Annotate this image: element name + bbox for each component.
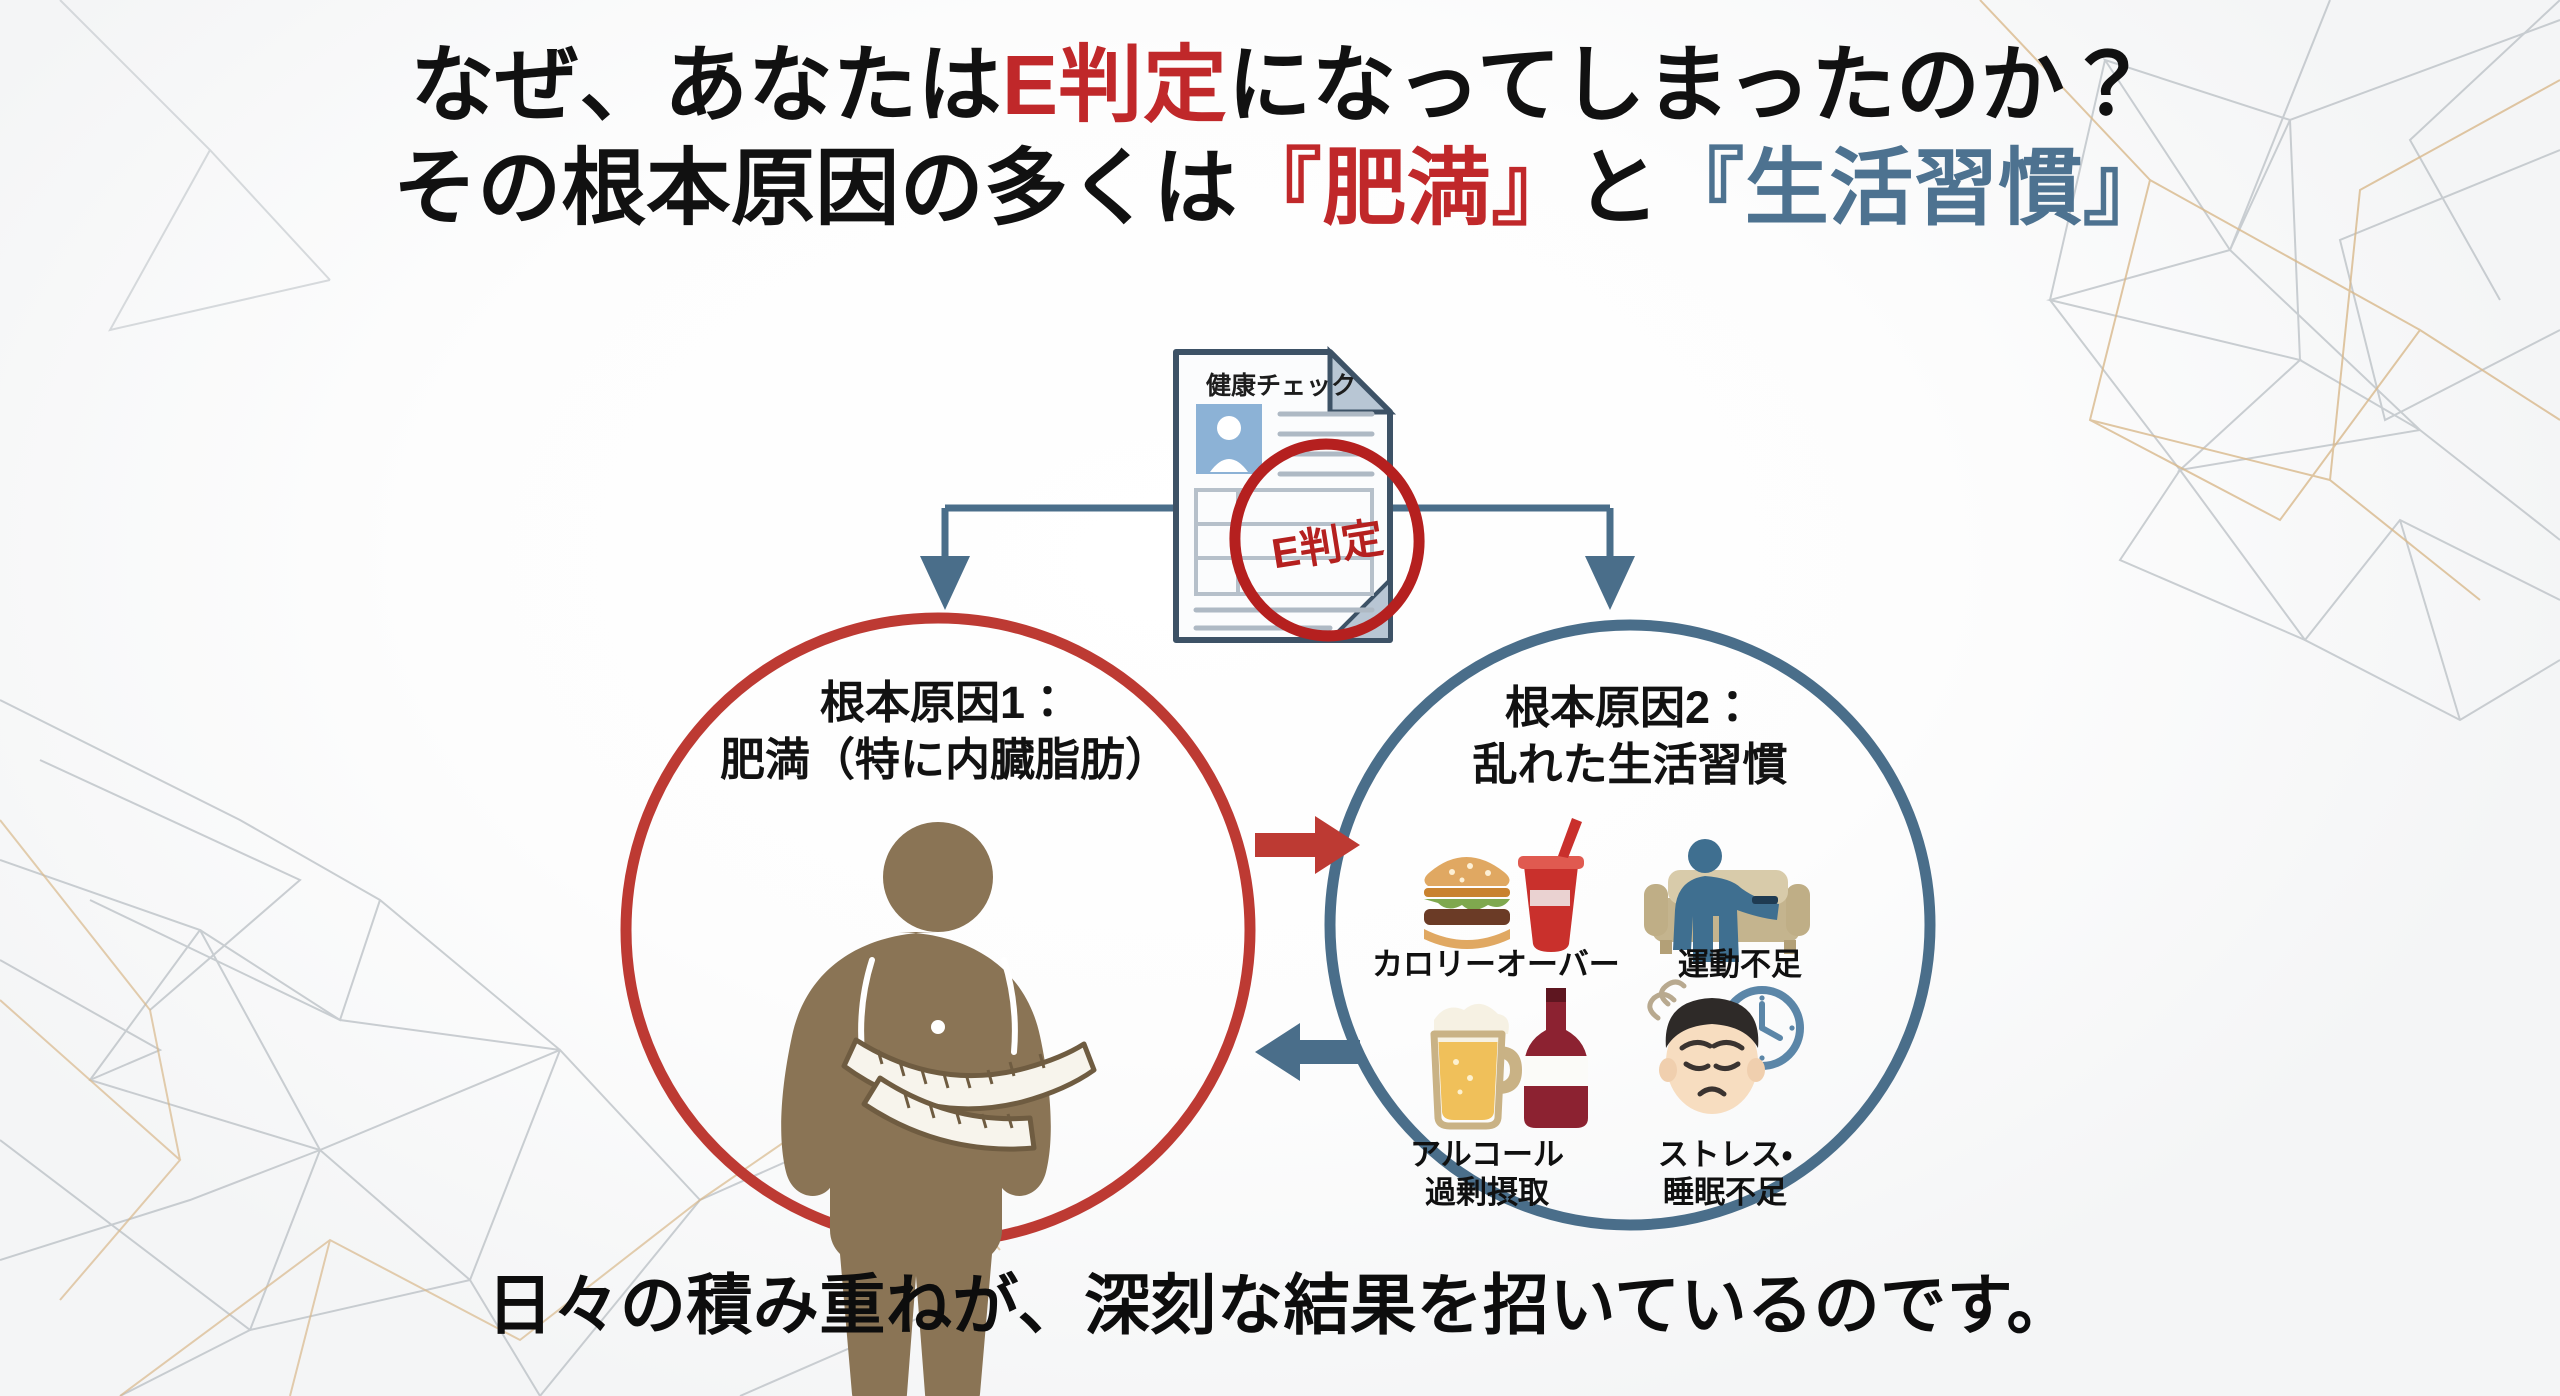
habit-2-line1: アルコール <box>1378 1136 1596 1174</box>
slide-root: なぜ、あなたはE判定になってしまったのか？ その根本原因の多くは『肥満』と『生活… <box>0 0 2560 1396</box>
habit-label-stress-sleep: ストレス・ 睡眠不足 <box>1616 1136 1834 1212</box>
title-line-2: その根本原因の多くは『肥満』と『生活習慣』 <box>0 137 2560 240</box>
habit-2-line2: 過剰摂取 <box>1378 1174 1596 1212</box>
title-line1-pre: なぜ、あなたは <box>411 38 1003 132</box>
cause-right-heading-line1: 根本原因2： <box>1330 680 1930 737</box>
title-line2-pre: その根本原因の多くは <box>393 141 1238 235</box>
footer-caption: 日々の積み重ねが、深刻な結果を招いているのです。 <box>0 1252 2560 1348</box>
title-line2-mid: と <box>1576 141 1661 235</box>
cause-right-heading: 根本原因2： 乱れた生活習慣 <box>1330 680 1930 793</box>
habit-0-line1: カロリーオーバー <box>1372 946 1602 984</box>
habit-3-line1: ストレス・ <box>1616 1136 1834 1174</box>
cause-left-heading-line2: 肥満（特に内臓脂肪） <box>635 732 1255 789</box>
title-line1-highlight: E判定 <box>1002 38 1228 132</box>
habit-label-alcohol: アルコール 過剰摂取 <box>1378 1136 1596 1212</box>
title-line-1: なぜ、あなたはE判定になってしまったのか？ <box>0 34 2560 137</box>
title-line2-obesity: 『肥満』 <box>1238 141 1576 235</box>
cause-left-heading: 根本原因1： 肥満（特に内臓脂肪） <box>635 675 1255 788</box>
habit-label-calorie-over: カロリーオーバー <box>1372 946 1602 984</box>
habit-1-line1: 運動不足 <box>1612 946 1868 984</box>
document-title: 健康チェック <box>1186 366 1376 402</box>
habit-3-line2: 睡眠不足 <box>1616 1174 1834 1212</box>
habit-label-lack-of-exercise: 運動不足 <box>1612 946 1868 984</box>
cause-right-heading-line2: 乱れた生活習慣 <box>1330 737 1930 794</box>
cause-left-heading-line1: 根本原因1： <box>635 675 1255 732</box>
title-line2-lifestyle: 『生活習慣』 <box>1660 141 2167 235</box>
title-line1-post: になってしまったのか？ <box>1228 38 2150 132</box>
arrow-down-right-icon <box>1585 556 1635 610</box>
arrow-down-left-icon <box>920 556 970 610</box>
title-block: なぜ、あなたはE判定になってしまったのか？ その根本原因の多くは『肥満』と『生活… <box>0 34 2560 241</box>
